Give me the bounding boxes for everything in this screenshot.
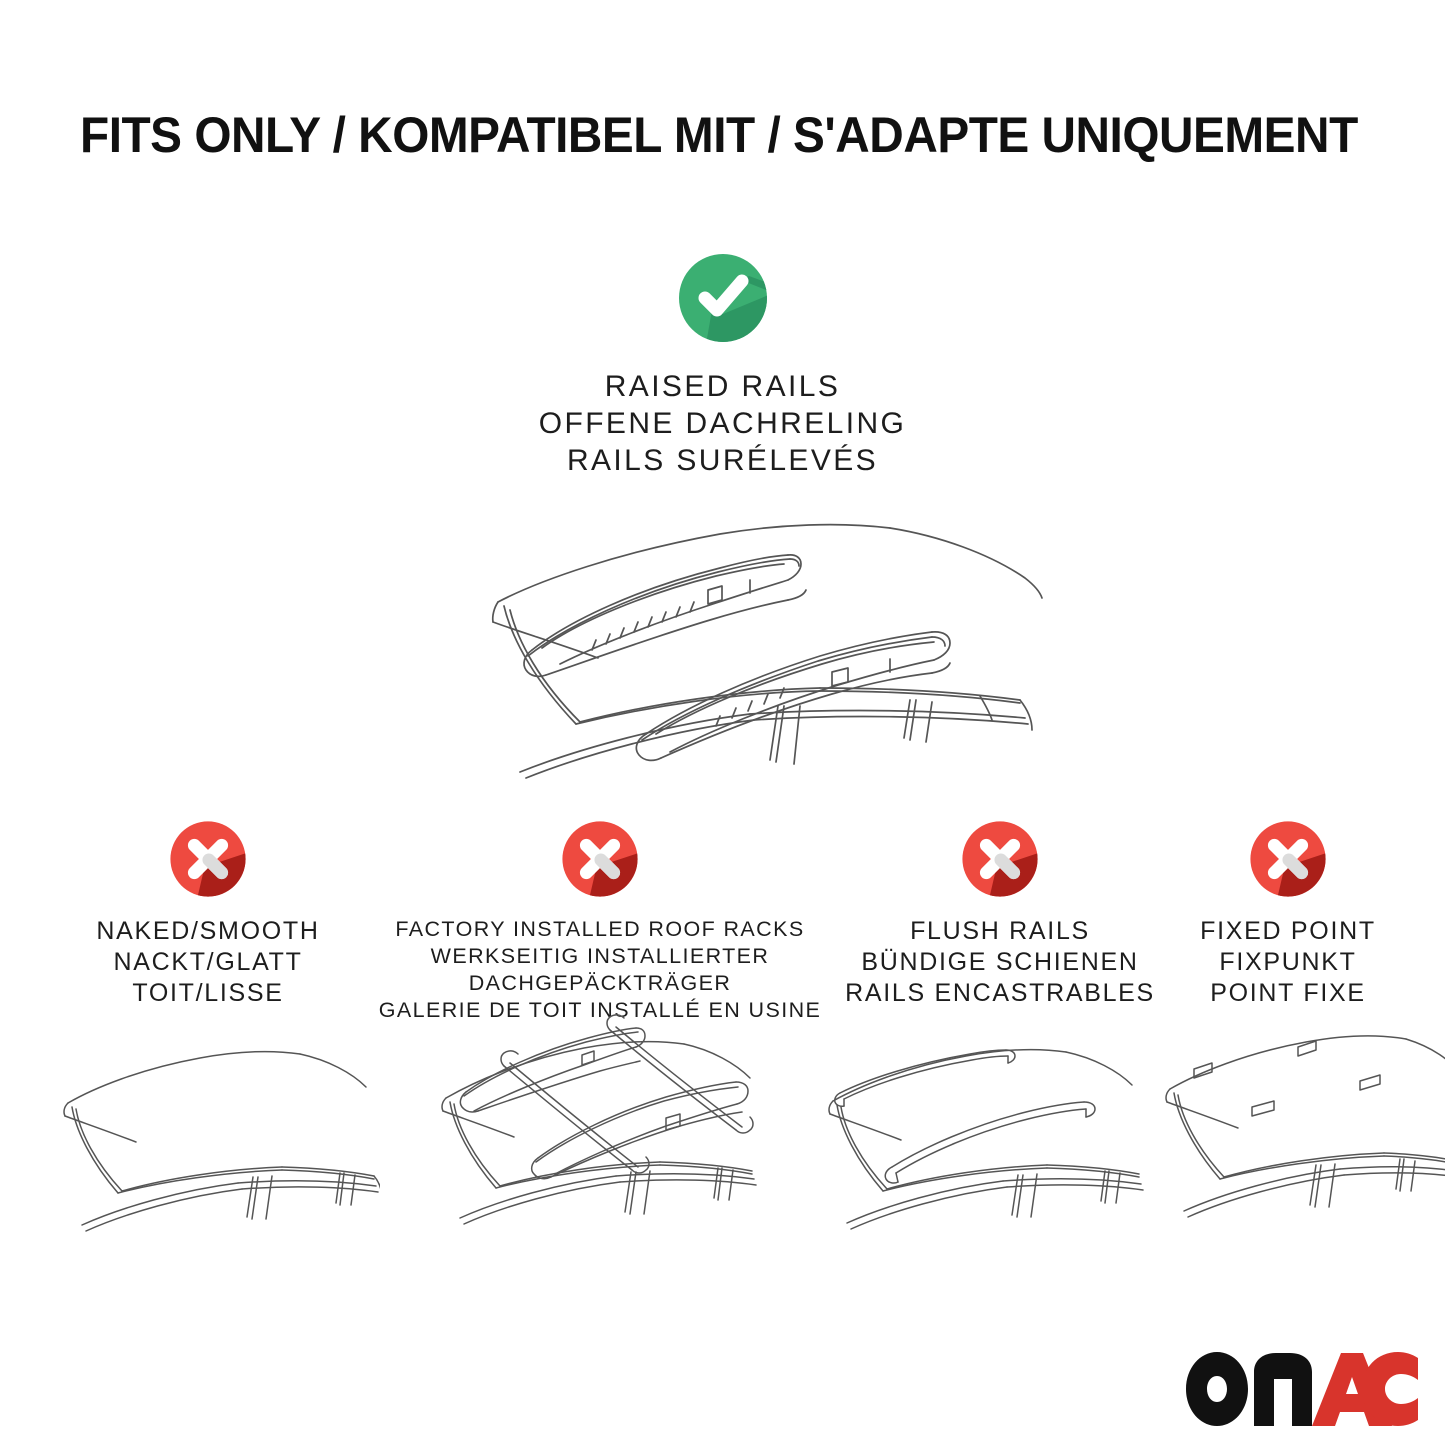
compatible-labels: RAISED RAILS OFFENE DACHRELING RAILS SUR… xyxy=(0,368,1445,479)
incompatible-column-factory-racks: FACTORY INSTALLED ROOF RACKS WERKSEITIG … xyxy=(350,818,850,1024)
car-roof-naked-smooth-illustration xyxy=(10,1025,380,1265)
infographic-page: FITS ONLY / KOMPATIBEL MIT / S'ADAPTE UN… xyxy=(0,0,1445,1445)
label-de: NACKT/GLATT xyxy=(48,947,368,978)
compatible-label-fr: RAILS SURÉLEVÉS xyxy=(0,442,1445,479)
label-en: FLUSH RAILS xyxy=(810,916,1190,947)
incompatible-column-naked-smooth: NAKED/SMOOTH NACKT/GLATT TOIT/LISSE xyxy=(48,818,368,1009)
label-de-2: DACHGEPÄCKTRÄGER xyxy=(350,970,850,997)
label-de: BÜNDIGE SCHIENEN xyxy=(810,947,1190,978)
label-de: FIXPUNKT xyxy=(1148,947,1428,978)
logo-letter-m xyxy=(1254,1353,1312,1426)
compatible-label-de: OFFENE DACHRELING xyxy=(0,405,1445,442)
x-circle-icon xyxy=(167,818,249,900)
incompatible-column-fixed-point: FIXED POINT FIXPUNKT POINT FIXE xyxy=(1148,818,1428,1009)
label-en: FIXED POINT xyxy=(1148,916,1428,947)
check-circle-icon xyxy=(675,250,771,346)
label-fr: TOIT/LISSE xyxy=(48,978,368,1009)
x-circle-icon xyxy=(1247,818,1329,900)
incompatible-labels-flush-rails: FLUSH RAILS BÜNDIGE SCHIENEN RAILS ENCAS… xyxy=(810,916,1190,1009)
car-roof-fixed-point-illustration xyxy=(1128,1025,1445,1265)
label-fr: RAILS ENCASTRABLES xyxy=(810,978,1190,1009)
incompatible-labels-fixed-point: FIXED POINT FIXPUNKT POINT FIXE xyxy=(1148,916,1428,1009)
compatible-section: RAISED RAILS OFFENE DACHRELING RAILS SUR… xyxy=(0,250,1445,479)
x-circle-icon xyxy=(559,818,641,900)
car-roof-factory-roof-racks-illustration xyxy=(398,1010,768,1265)
label-fr: POINT FIXE xyxy=(1148,978,1428,1009)
incompatible-labels-factory-racks: FACTORY INSTALLED ROOF RACKS WERKSEITIG … xyxy=(350,916,850,1024)
page-title: FITS ONLY / KOMPATIBEL MIT / S'ADAPTE UN… xyxy=(80,108,1322,162)
omac-logo xyxy=(1186,1352,1418,1426)
car-roof-flush-rails-illustration xyxy=(778,1025,1148,1265)
car-roof-with-raised-rails-illustration xyxy=(420,492,1050,792)
incompatible-column-flush-rails: FLUSH RAILS BÜNDIGE SCHIENEN RAILS ENCAS… xyxy=(810,818,1190,1009)
compatible-label-en: RAISED RAILS xyxy=(0,368,1445,405)
label-en: NAKED/SMOOTH xyxy=(48,916,368,947)
label-de-1: WERKSEITIG INSTALLIERTER xyxy=(350,943,850,970)
x-circle-icon xyxy=(959,818,1041,900)
incompatible-labels-naked-smooth: NAKED/SMOOTH NACKT/GLATT TOIT/LISSE xyxy=(48,916,368,1009)
logo-letter-o xyxy=(1186,1352,1248,1426)
label-en: FACTORY INSTALLED ROOF RACKS xyxy=(350,916,850,943)
